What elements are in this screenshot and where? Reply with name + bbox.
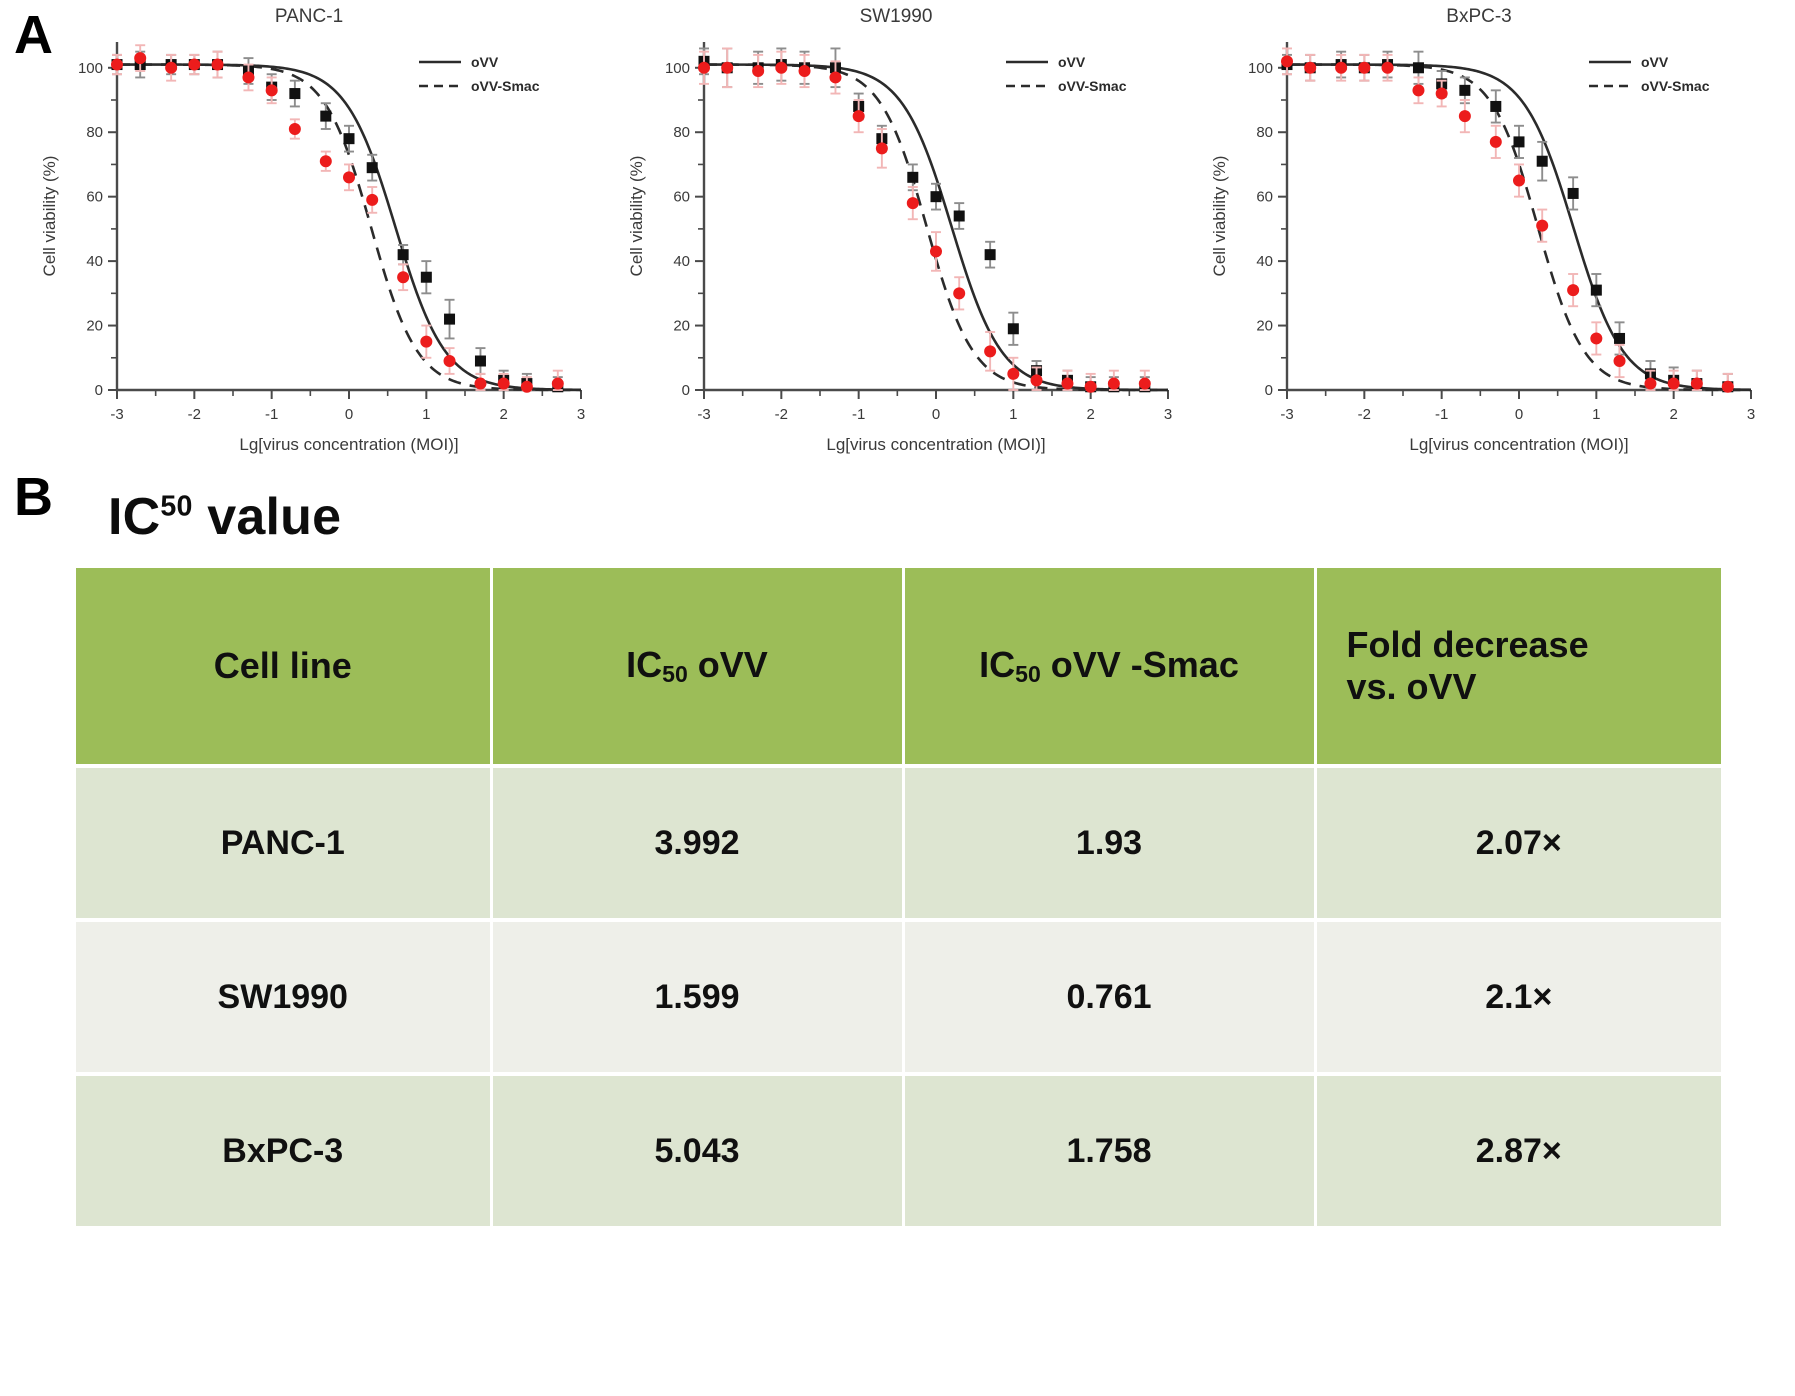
y-tick-label: 80 <box>1256 124 1273 141</box>
legend-label-ovv: oVV <box>471 54 499 70</box>
curve-ovv-smac <box>1287 65 1751 390</box>
x-tick-label: -1 <box>1435 406 1448 423</box>
ic50-heading-prefix: IC <box>108 488 160 546</box>
x-tick-label: 1 <box>1592 406 1600 423</box>
y-tick-label: 20 <box>86 318 103 335</box>
header-fold-decrease-line1: Fold decrease <box>1347 624 1589 665</box>
x-tick-label: 2 <box>1669 406 1677 423</box>
x-tick-label: 0 <box>932 406 940 423</box>
x-tick-label: -3 <box>1280 406 1293 423</box>
x-axis-title: Lg[virus concentration (MOI)] <box>826 435 1045 454</box>
x-tick-label: 3 <box>1164 406 1172 423</box>
x-tick-label: 2 <box>499 406 507 423</box>
table-row: SW1990 1.599 0.761 2.1× <box>76 920 1721 1074</box>
header-ic50-ovv-smac-pre: IC <box>979 644 1015 685</box>
ic50-ovv-smac-value: 1.93 <box>903 766 1315 920</box>
panel-b-table: B IC50 value Cell line IC50 oVV IC50 oVV… <box>0 470 1795 1396</box>
y-tick-label: 20 <box>1256 318 1273 335</box>
header-cell-line: Cell line <box>76 568 491 766</box>
x-tick-label: 1 <box>422 406 430 423</box>
x-tick-label: 2 <box>1086 406 1094 423</box>
y-axis-title: Cell viability (%) <box>40 156 59 277</box>
y-tick-label: 100 <box>1248 60 1273 77</box>
series-ovv <box>112 52 564 393</box>
ic50-value-heading: IC50 value <box>108 487 341 547</box>
fold-decrease-value: 2.07× <box>1315 766 1721 920</box>
y-tick-label: 60 <box>1256 189 1273 206</box>
ic50-heading-superscript: 50 <box>160 491 192 523</box>
header-fold-decrease-line2: vs. oVV <box>1347 666 1477 707</box>
y-tick-label: 60 <box>673 189 690 206</box>
header-ic50-ovv-smac-post: oVV -Smac <box>1041 644 1239 685</box>
x-tick-label: 0 <box>1515 406 1523 423</box>
fold-decrease-value: 2.1× <box>1315 920 1721 1074</box>
chart-legend: oVVoVV-Smac <box>998 46 1166 98</box>
chart-bxpc3: BxPC-3-3-2-10123020406080100Lg[virus con… <box>1195 0 1775 470</box>
fold-decrease-value: 2.87× <box>1315 1074 1721 1226</box>
x-axis-title: Lg[virus concentration (MOI)] <box>239 435 458 454</box>
x-tick-label: 0 <box>345 406 353 423</box>
ic50-heading-suffix: value <box>193 488 342 546</box>
x-axis-title: Lg[virus concentration (MOI)] <box>1409 435 1628 454</box>
ic50-ovv-value: 3.992 <box>491 766 903 920</box>
y-tick-label: 100 <box>78 60 103 77</box>
y-axis-title: Cell viability (%) <box>627 156 646 277</box>
x-tick-label: -1 <box>852 406 865 423</box>
ic50-ovv-smac-value: 1.758 <box>903 1074 1315 1226</box>
chart-svg-panc1: PANC-1-3-2-10123020406080100Lg[virus con… <box>25 0 605 470</box>
y-tick-label: 20 <box>673 318 690 335</box>
y-tick-label: 80 <box>673 124 690 141</box>
x-tick-label: 3 <box>1747 406 1755 423</box>
chart-legend: oVVoVV-Smac <box>411 46 579 98</box>
table-row: PANC-1 3.992 1.93 2.07× <box>76 766 1721 920</box>
y-tick-label: 60 <box>86 189 103 206</box>
header-ic50-ovv-smac: IC50 oVV -Smac <box>903 568 1315 766</box>
legend-label-ovv: oVV <box>1058 54 1086 70</box>
legend-label-ovv-smac: oVV-Smac <box>1058 78 1127 94</box>
x-tick-label: -3 <box>697 406 710 423</box>
y-axis-title: Cell viability (%) <box>1210 156 1229 277</box>
header-ic50-ovv-smac-sub: 50 <box>1015 661 1041 687</box>
ic50-ovv-value: 5.043 <box>491 1074 903 1226</box>
header-cell-line-label: Cell line <box>214 645 352 686</box>
chart-title: BxPC-3 <box>1446 6 1511 27</box>
x-tick-label: -2 <box>188 406 201 423</box>
series-ovv <box>1282 52 1734 393</box>
chart-panc1: PANC-1-3-2-10123020406080100Lg[virus con… <box>25 0 605 470</box>
curve-ovv <box>117 65 581 390</box>
table-row: BxPC-3 5.043 1.758 2.87× <box>76 1074 1721 1226</box>
cell-line-value: SW1990 <box>76 920 491 1074</box>
legend-label-ovv: oVV <box>1641 54 1669 70</box>
y-tick-label: 40 <box>86 253 103 270</box>
chart-title: PANC-1 <box>275 6 343 27</box>
y-tick-label: 0 <box>682 382 690 399</box>
chart-svg-sw1990: SW1990-3-2-10123020406080100Lg[virus con… <box>612 0 1192 470</box>
y-tick-label: 80 <box>86 124 103 141</box>
cell-line-value: BxPC-3 <box>76 1074 491 1226</box>
panel-a-charts: A PANC-1-3-2-10123020406080100Lg[virus c… <box>0 0 1795 470</box>
header-ic50-ovv: IC50 oVV <box>491 568 903 766</box>
legend-label-ovv-smac: oVV-Smac <box>1641 78 1710 94</box>
legend-label-ovv-smac: oVV-Smac <box>471 78 540 94</box>
x-tick-label: -2 <box>775 406 788 423</box>
ic50-ovv-smac-value: 0.761 <box>903 920 1315 1074</box>
table-header-row: Cell line IC50 oVV IC50 oVV -Smac Fold d… <box>76 568 1721 766</box>
x-tick-label: -2 <box>1358 406 1371 423</box>
curve-ovv <box>704 65 1168 390</box>
y-tick-label: 40 <box>673 253 690 270</box>
header-ic50-ovv-sub: 50 <box>662 661 688 687</box>
panel-b-letter: B <box>14 470 53 524</box>
y-tick-label: 0 <box>1265 382 1273 399</box>
x-tick-label: 1 <box>1009 406 1017 423</box>
y-tick-label: 100 <box>665 60 690 77</box>
y-tick-label: 40 <box>1256 253 1273 270</box>
x-tick-label: -1 <box>265 406 278 423</box>
curve-ovv <box>1287 65 1751 390</box>
header-ic50-ovv-post: oVV <box>688 644 768 685</box>
chart-sw1990: SW1990-3-2-10123020406080100Lg[virus con… <box>612 0 1192 470</box>
header-fold-decrease: Fold decreasevs. oVV <box>1315 568 1721 766</box>
series-ovv-smac <box>1281 48 1734 392</box>
chart-svg-bxpc3: BxPC-3-3-2-10123020406080100Lg[virus con… <box>1195 0 1775 470</box>
chart-title: SW1990 <box>860 6 933 27</box>
curve-ovv-smac <box>117 65 581 390</box>
x-tick-label: -3 <box>110 406 123 423</box>
x-tick-label: 3 <box>577 406 585 423</box>
ic50-table: Cell line IC50 oVV IC50 oVV -Smac Fold d… <box>76 568 1721 1226</box>
y-tick-label: 0 <box>95 382 103 399</box>
cell-line-value: PANC-1 <box>76 766 491 920</box>
curve-ovv-smac <box>704 65 1168 390</box>
chart-legend: oVVoVV-Smac <box>1581 46 1749 98</box>
header-ic50-ovv-pre: IC <box>626 644 662 685</box>
ic50-ovv-value: 1.599 <box>491 920 903 1074</box>
